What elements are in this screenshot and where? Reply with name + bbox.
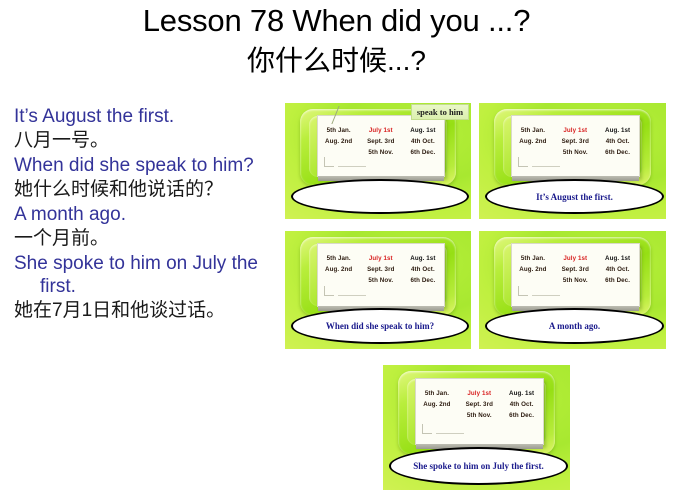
- date-cell: 6th Dec.: [596, 275, 638, 286]
- date-cell-empty: [416, 410, 458, 421]
- date-cell: 5th Nov.: [554, 147, 596, 158]
- caption-text: A month ago.: [549, 321, 600, 331]
- date-cell: 4th Oct.: [500, 399, 542, 410]
- panel-corner-mark-icon: [422, 424, 432, 434]
- calendar-panel: 5th Jan. July 1st Aug. 1st Aug. 2nd Sept…: [511, 115, 640, 178]
- date-cell: 6th Dec.: [596, 147, 638, 158]
- calendar-card-3[interactable]: 5th Jan. July 1st Aug. 1st Aug. 2nd Sept…: [285, 231, 471, 349]
- table-row: 5th Jan. July 1st Aug. 1st: [318, 253, 444, 264]
- caption-oval: She spoke to him on July the first.: [389, 447, 569, 485]
- panel-corner-mark-icon: [324, 157, 334, 167]
- panel-underline: [436, 433, 464, 434]
- panel-underline: [532, 295, 560, 296]
- date-cell: 4th Oct.: [402, 136, 444, 147]
- date-cell: 6th Dec.: [402, 147, 444, 158]
- calendar-card-4[interactable]: 5th Jan. July 1st Aug. 1st Aug. 2nd Sept…: [479, 231, 666, 349]
- date-cell-empty: [512, 275, 554, 286]
- panel-corner-mark-icon: [518, 157, 528, 167]
- panel-underline: [338, 166, 366, 167]
- date-cell: 6th Dec.: [500, 410, 542, 421]
- date-cell: 5th Nov.: [360, 275, 402, 286]
- table-row: 5th Jan. July 1st Aug. 1st: [318, 125, 444, 136]
- table-row: Aug. 2nd Sept. 3rd 4th Oct.: [416, 399, 543, 410]
- date-cell-bold: Aug. 1st: [402, 125, 444, 136]
- transcript-line-en-4: She spoke to him on July the first.: [14, 252, 272, 298]
- caption-text: When did she speak to him?: [326, 321, 434, 331]
- table-row: 5th Nov. 6th Dec.: [416, 410, 543, 421]
- table-row: 5th Nov. 6th Dec.: [318, 147, 444, 158]
- table-row: Aug. 2nd Sept. 3rd 4th Oct.: [318, 136, 444, 147]
- caption-text: It’s August the first.: [536, 192, 613, 202]
- caption-text: She spoke to him on July the first.: [413, 461, 544, 471]
- date-cell: 5th Nov.: [360, 147, 402, 158]
- date-cell-bold: Aug. 1st: [596, 253, 638, 264]
- panel-underline: [532, 166, 560, 167]
- table-row: Aug. 2nd Sept. 3rd 4th Oct.: [318, 264, 444, 275]
- calendar-panel: 5th Jan. July 1st Aug. 1st Aug. 2nd Sept…: [317, 243, 445, 307]
- transcript-line-cn-2: 她什么时候和他说话的？: [14, 178, 272, 202]
- date-cell: 5th Jan.: [512, 125, 554, 136]
- transcript-line-cn-4: 她在7月1日和他谈过话。: [14, 299, 272, 323]
- date-cell: Sept. 3rd: [360, 136, 402, 147]
- date-cell: Aug. 2nd: [318, 264, 360, 275]
- calendar-dates-table: 5th Jan. July 1st Aug. 1st Aug. 2nd Sept…: [416, 388, 543, 421]
- date-cell: 4th Oct.: [596, 136, 638, 147]
- calendar-card-2[interactable]: 5th Jan. July 1st Aug. 1st Aug. 2nd Sept…: [479, 103, 666, 219]
- table-row: 5th Jan. July 1st Aug. 1st: [512, 253, 639, 264]
- transcript-line-cn-3: 一个月前。: [14, 227, 272, 251]
- date-cell-highlight: July 1st: [458, 388, 500, 399]
- date-cell-bold: Aug. 1st: [500, 388, 542, 399]
- calendar-panel: 5th Jan. July 1st Aug. 1st Aug. 2nd Sept…: [415, 378, 544, 446]
- date-cell-highlight: July 1st: [360, 125, 402, 136]
- table-row: Aug. 2nd Sept. 3rd 4th Oct.: [512, 264, 639, 275]
- date-cell: 5th Jan.: [318, 253, 360, 264]
- date-cell: Aug. 2nd: [512, 136, 554, 147]
- callout-label: speak to him: [411, 104, 469, 120]
- table-row: Aug. 2nd Sept. 3rd 4th Oct.: [512, 136, 639, 147]
- date-cell-bold: Aug. 1st: [596, 125, 638, 136]
- date-cell: 5th Nov.: [554, 275, 596, 286]
- table-row: 5th Nov. 6th Dec.: [318, 275, 444, 286]
- date-cell-highlight: July 1st: [360, 253, 402, 264]
- table-row: 5th Nov. 6th Dec.: [512, 147, 639, 158]
- date-cell: 4th Oct.: [596, 264, 638, 275]
- transcript-line-cn-1: 八月一号。: [14, 129, 272, 153]
- calendar-dates-table: 5th Jan. July 1st Aug. 1st Aug. 2nd Sept…: [318, 125, 444, 158]
- date-cell: 5th Jan.: [416, 388, 458, 399]
- calendar-card-5[interactable]: 5th Jan. July 1st Aug. 1st Aug. 2nd Sept…: [383, 365, 570, 490]
- date-cell: Sept. 3rd: [554, 264, 596, 275]
- date-cell: Sept. 3rd: [458, 399, 500, 410]
- date-cell: 6th Dec.: [402, 275, 444, 286]
- date-cell: 5th Jan.: [512, 253, 554, 264]
- caption-oval: [291, 179, 470, 214]
- table-row: 5th Jan. July 1st Aug. 1st: [416, 388, 543, 399]
- date-cell: Sept. 3rd: [554, 136, 596, 147]
- page-title-chinese: 你什么时候...?: [0, 44, 673, 78]
- table-row: 5th Nov. 6th Dec.: [512, 275, 639, 286]
- caption-oval: A month ago.: [485, 308, 665, 344]
- panel-corner-mark-icon: [324, 286, 334, 296]
- calendar-dates-table: 5th Jan. July 1st Aug. 1st Aug. 2nd Sept…: [512, 253, 639, 286]
- panel-corner-mark-icon: [518, 286, 528, 296]
- calendar-card-1[interactable]: 5th Jan. July 1st Aug. 1st Aug. 2nd Sept…: [285, 103, 471, 219]
- date-cell: Sept. 3rd: [360, 264, 402, 275]
- calendar-panel: 5th Jan. July 1st Aug. 1st Aug. 2nd Sept…: [511, 243, 640, 307]
- calendar-panel: 5th Jan. July 1st Aug. 1st Aug. 2nd Sept…: [317, 115, 445, 178]
- date-cell-highlight: July 1st: [554, 253, 596, 264]
- caption-oval: It’s August the first.: [485, 179, 665, 214]
- table-row: 5th Jan. July 1st Aug. 1st: [512, 125, 639, 136]
- page-title: Lesson 78 When did you ...?: [0, 2, 673, 40]
- date-cell: Aug. 2nd: [318, 136, 360, 147]
- transcript-line-en-3: A month ago.: [14, 203, 272, 226]
- date-cell: 4th Oct.: [402, 264, 444, 275]
- caption-oval: When did she speak to him?: [291, 308, 470, 344]
- date-cell-highlight: July 1st: [554, 125, 596, 136]
- transcript-line-en-2: When did she speak to him?: [14, 154, 272, 177]
- date-cell-bold: Aug. 1st: [402, 253, 444, 264]
- date-cell: Aug. 2nd: [416, 399, 458, 410]
- panel-underline: [338, 295, 366, 296]
- date-cell: Aug. 2nd: [512, 264, 554, 275]
- calendar-dates-table: 5th Jan. July 1st Aug. 1st Aug. 2nd Sept…: [512, 125, 639, 158]
- date-cell: 5th Jan.: [318, 125, 360, 136]
- calendar-dates-table: 5th Jan. July 1st Aug. 1st Aug. 2nd Sept…: [318, 253, 444, 286]
- transcript-line-en-1: It’s August the first.: [14, 105, 272, 128]
- transcript-text-block: It’s August the first. 八月一号。 When did sh…: [14, 105, 272, 324]
- date-cell: 5th Nov.: [458, 410, 500, 421]
- date-cell-empty: [318, 275, 360, 286]
